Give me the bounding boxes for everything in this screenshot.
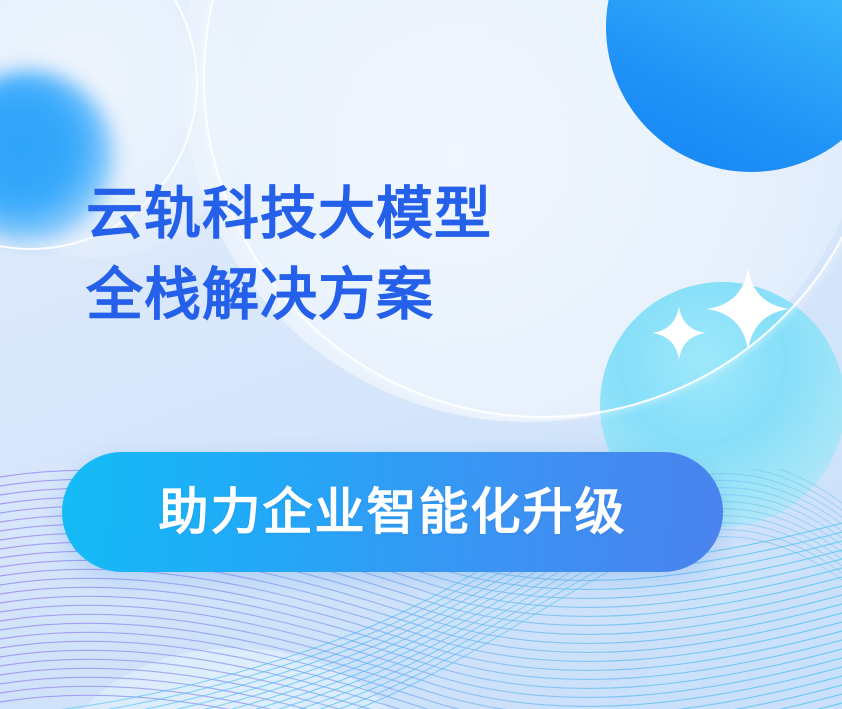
cta-button-label: 助力企业智能化升级	[159, 487, 627, 537]
poster-content: 云轨科技大模型 全栈解决方案 助力企业智能化升级	[0, 0, 842, 709]
headline-line-2: 全栈解决方案	[86, 267, 706, 324]
headline-line-1: 云轨科技大模型	[86, 186, 706, 243]
headline-block: 云轨科技大模型 全栈解决方案	[86, 186, 706, 324]
promo-poster: 云轨科技大模型 全栈解决方案 助力企业智能化升级	[0, 0, 842, 709]
cta-button[interactable]: 助力企业智能化升级	[62, 452, 723, 572]
